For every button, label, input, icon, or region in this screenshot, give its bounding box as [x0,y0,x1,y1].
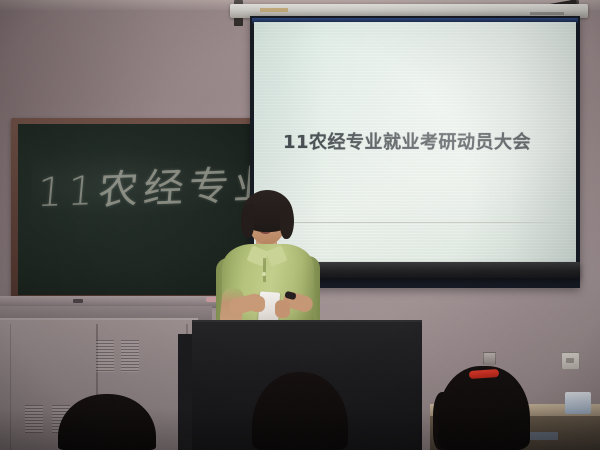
classroom-photo-scene: 11农经专业 11农经专业就业考研动员大会 [0,0,600,450]
slide-title-text: 11农经专业就业考研动员大会 [283,128,563,154]
housing-sticker-icon [260,8,288,12]
housing-brand-label [530,12,564,15]
presenter-shirt-button [262,272,266,276]
slide-divider-rule [262,222,566,223]
wall-power-outlet[interactable] [561,352,580,370]
cabinet-panel-edge-left [10,324,11,450]
student-head-right [438,366,530,450]
presenter-hair-side-left [241,204,254,238]
wall-junction-box [483,352,496,365]
cabinet-vent-icon [96,340,114,372]
desk-notebook [565,392,591,414]
cabinet-vent-icon [25,405,43,433]
presenter-shirt-placket [263,258,266,282]
desk-small-object [73,299,83,303]
presenter-hand-left [250,296,265,312]
cabinet-vent-icon [121,340,139,372]
presenter-hair-side-right [280,203,294,239]
presenter-hand-right [275,300,290,318]
